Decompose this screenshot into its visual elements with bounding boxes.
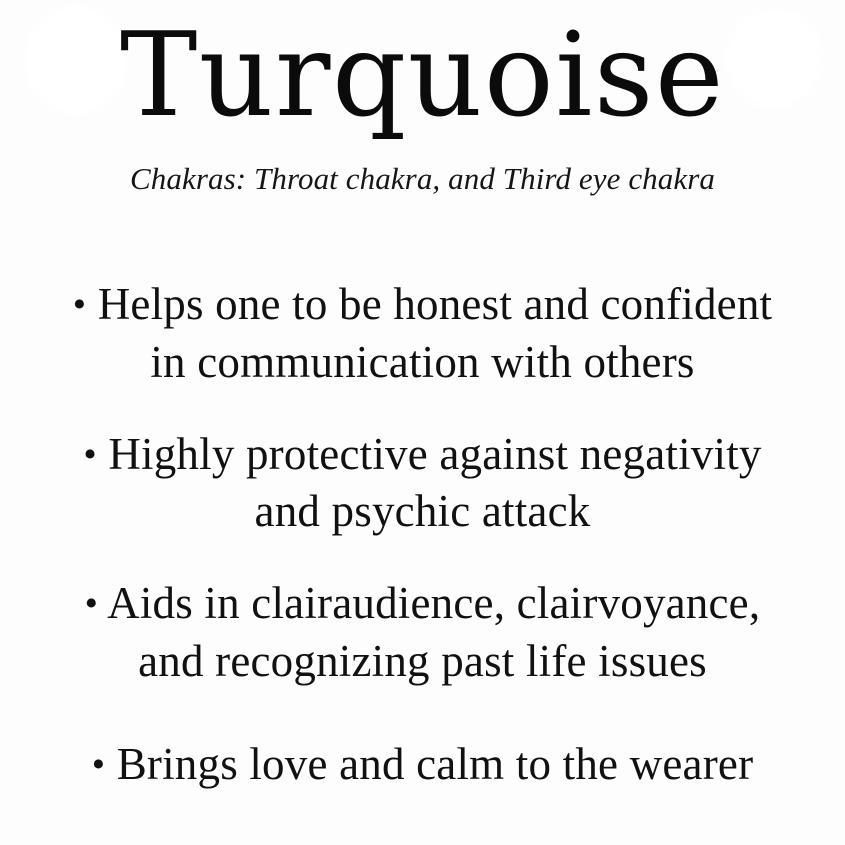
benefits-list: • Helps one to be honest and confident i… xyxy=(0,276,845,794)
bullet-marker-icon: • xyxy=(73,284,87,326)
list-item-line-2: and psychic attack xyxy=(255,486,591,536)
list-item-line-1: Aids in clairaudience, clairvoyance, xyxy=(107,578,760,628)
list-item: • Helps one to be honest and confident i… xyxy=(0,276,845,391)
list-item: • Aids in clairaudience, clairvoyance, a… xyxy=(0,575,845,690)
page-title: Turquoise xyxy=(0,8,845,145)
list-item-line-2: and recognizing past life issues xyxy=(138,636,707,686)
crystal-info-card: Turquoise Chakras: Throat chakra, and Th… xyxy=(0,0,845,845)
chakra-subtitle: Chakras: Throat chakra, and Third eye ch… xyxy=(0,160,845,197)
bullet-marker-icon: • xyxy=(85,583,99,625)
bullet-marker-icon: • xyxy=(92,744,106,786)
list-item: • Highly protective against negativity a… xyxy=(0,426,845,541)
bullet-marker-icon: • xyxy=(83,433,97,475)
card-content: Turquoise Chakras: Throat chakra, and Th… xyxy=(0,0,845,845)
list-item-line-1: Helps one to be honest and confident xyxy=(98,279,773,329)
list-item: • Brings love and calm to the wearer xyxy=(0,736,845,794)
list-item-line-1: Brings love and calm to the wearer xyxy=(117,739,754,789)
list-item-line-1: Highly protective against negativity xyxy=(108,429,761,479)
list-item-line-2: in communication with others xyxy=(150,337,694,387)
